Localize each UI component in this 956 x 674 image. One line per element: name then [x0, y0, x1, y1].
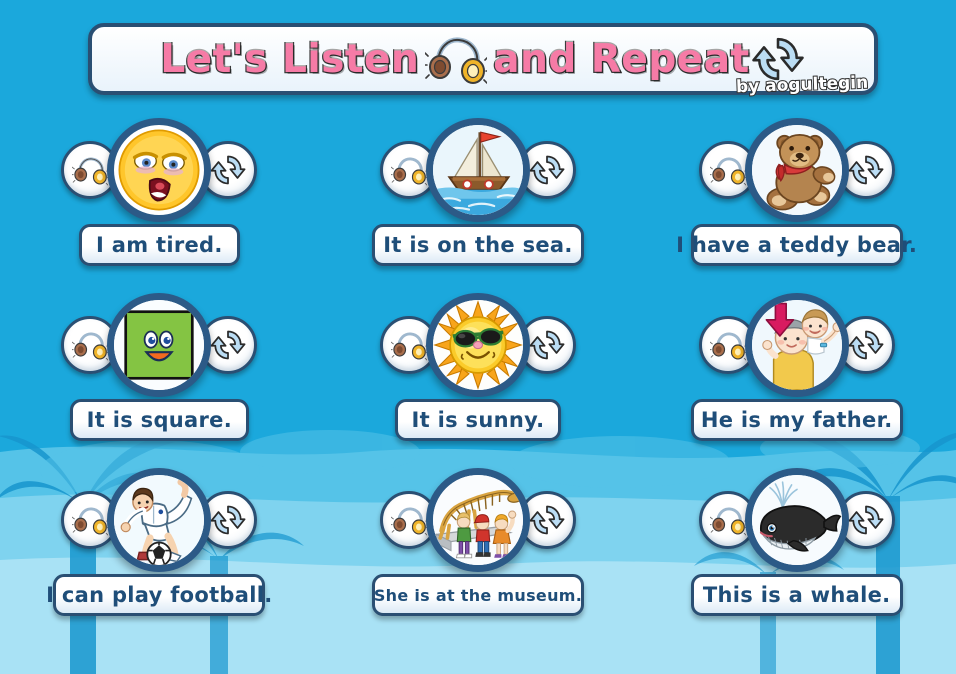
caption-box-father[interactable]: He is my father. — [691, 399, 903, 441]
image-sun-with-sunglasses[interactable] — [426, 293, 530, 397]
phrase-card-grid: I am tired. — [0, 110, 956, 625]
caption-text: I am tired. — [96, 233, 223, 257]
footballer-kicking-icon — [114, 474, 204, 566]
phrase-card-square: It is square. — [0, 285, 319, 450]
image-museum-dinosaur-skeleton[interactable] — [426, 468, 530, 572]
headphones-icon — [72, 329, 108, 361]
image-tired-face-emoji[interactable] — [107, 118, 211, 222]
green-smiling-square-icon — [114, 299, 204, 391]
sun-with-sunglasses-icon — [433, 299, 523, 391]
phrase-card-tired: I am tired. — [0, 110, 319, 275]
headphones-icon — [72, 154, 108, 186]
repeat-icon — [528, 501, 566, 539]
sailboat-on-sea-icon — [433, 124, 523, 216]
headphones-icon — [391, 154, 427, 186]
headphones-icon — [425, 32, 487, 86]
museum-dinosaur-skeleton-icon — [433, 474, 523, 566]
phrase-card-museum: She is at the museum. — [319, 460, 638, 625]
headphones-icon — [391, 329, 427, 361]
caption-box-sea[interactable]: It is on the sea. — [372, 224, 584, 266]
phrase-card-teddy: I have a teddy bear. — [637, 110, 956, 275]
caption-text: I can play football. — [46, 583, 272, 607]
title-banner: Let's Listen and Repe — [88, 23, 878, 95]
phrase-card-whale: This is a whale. — [637, 460, 956, 625]
phrase-card-football: I can play football. — [0, 460, 319, 625]
caption-box-whale[interactable]: This is a whale. — [691, 574, 903, 616]
phrase-card-sunny: It is sunny. — [319, 285, 638, 450]
app-stage: Let's Listen and Repe — [0, 0, 956, 674]
headphones-icon — [710, 154, 746, 186]
phrase-card-father: He is my father. — [637, 285, 956, 450]
image-father-and-child[interactable] — [745, 293, 849, 397]
title-text-part2: and Repeat — [493, 37, 749, 82]
repeat-icon — [209, 501, 247, 539]
caption-box-tired[interactable]: I am tired. — [79, 224, 240, 266]
whale-spouting-icon — [752, 474, 842, 566]
author-signature: by aogultegin — [736, 73, 869, 98]
caption-text: She is at the museum. — [374, 586, 582, 605]
image-green-smiling-square[interactable] — [107, 293, 211, 397]
caption-box-teddy[interactable]: I have a teddy bear. — [691, 224, 903, 266]
headphones-icon — [391, 504, 427, 536]
caption-box-sunny[interactable]: It is sunny. — [395, 399, 562, 441]
teddy-bear-icon — [752, 124, 842, 216]
father-and-child-icon — [752, 299, 842, 391]
repeat-icon — [847, 151, 885, 189]
repeat-icon — [528, 151, 566, 189]
tired-face-emoji-icon — [114, 124, 204, 216]
image-footballer-kicking[interactable] — [107, 468, 211, 572]
headphones-icon — [710, 329, 746, 361]
image-teddy-bear[interactable] — [745, 118, 849, 222]
repeat-icon — [209, 326, 247, 364]
phrase-card-sea: It is on the sea. — [319, 110, 638, 275]
headphones-icon — [710, 504, 746, 536]
repeat-icon — [209, 151, 247, 189]
repeat-icon — [847, 326, 885, 364]
caption-text: It is sunny. — [412, 408, 545, 432]
caption-box-football[interactable]: I can play football. — [53, 574, 265, 616]
headphones-icon — [72, 504, 108, 536]
repeat-icon — [847, 501, 885, 539]
caption-text: It is on the sea. — [383, 233, 572, 257]
title-text-part1: Let's Listen — [160, 37, 419, 82]
caption-text: He is my father. — [701, 408, 893, 432]
caption-box-museum[interactable]: She is at the museum. — [372, 574, 584, 616]
caption-box-square[interactable]: It is square. — [70, 399, 249, 441]
image-sailboat-on-sea[interactable] — [426, 118, 530, 222]
caption-text: It is square. — [87, 408, 232, 432]
image-whale-spouting[interactable] — [745, 468, 849, 572]
caption-text: This is a whale. — [703, 583, 891, 607]
repeat-icon — [528, 326, 566, 364]
caption-text: I have a teddy bear. — [676, 233, 917, 257]
